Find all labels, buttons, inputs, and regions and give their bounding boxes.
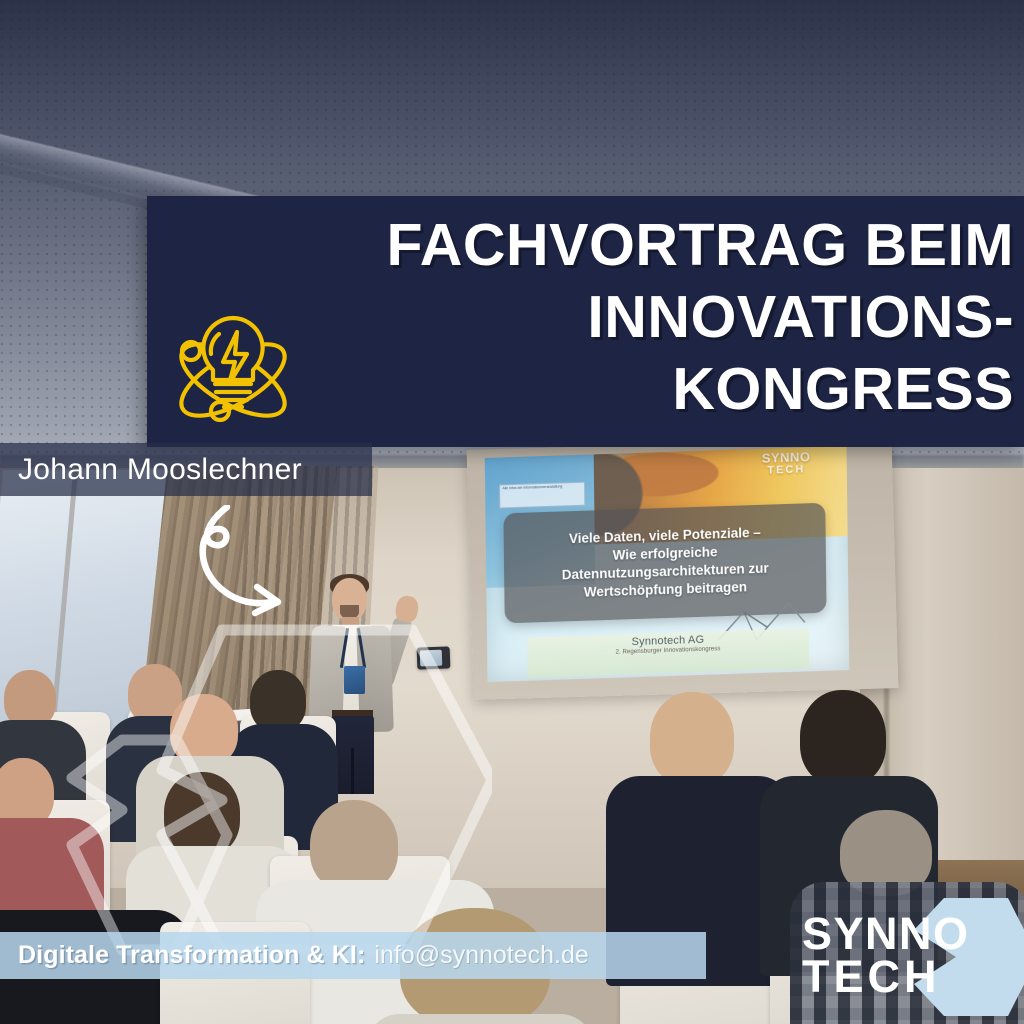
audience-body: [366, 1014, 594, 1024]
audience-head: [310, 800, 398, 892]
contact-email[interactable]: info@synnotech.de: [374, 941, 588, 970]
poster-canvas: Alle Infos der Informationsveranstaltung…: [0, 0, 1024, 1024]
logo-wordmark: SYNNO TECH: [802, 912, 970, 998]
audience-head: [800, 690, 886, 786]
title-text-block: FACHVORTRAG BEIM INNOVATIONS- KONGRESS: [152, 210, 1014, 426]
contact-headline: Digitale Transformation & KI:: [0, 941, 365, 970]
curly-arrow-icon: [183, 505, 298, 620]
slide-headline: Viele Daten, viele Potenziale – Wie erfo…: [555, 524, 775, 603]
title-line-3: KONGRESS: [152, 354, 1014, 426]
speaker-name: Johann Mooslechner: [0, 453, 302, 487]
audience-head: [164, 772, 240, 856]
projected-slide: Alle Infos der Informationsveranstaltung…: [485, 446, 850, 682]
title-line-2: INNOVATIONS-: [152, 282, 1014, 354]
synnotech-logo: SYNNO TECH: [798, 898, 1024, 1014]
logo-line-2: TECH: [802, 955, 970, 998]
title-banner: FACHVORTRAG BEIM INNOVATIONS- KONGRESS: [147, 196, 1024, 447]
contact-bar[interactable]: Digitale Transformation & KI: info@synno…: [0, 932, 706, 979]
audience-head: [650, 692, 734, 786]
presenter-hand: [394, 594, 420, 623]
slide-badge: Alle Infos der Informationsveranstaltung: [500, 482, 586, 509]
slide-brand-mark: SYNNO TECH: [762, 452, 811, 476]
conference-room-photo: Alle Infos der Informationsveranstaltung…: [0, 0, 1024, 1024]
audience-head: [250, 670, 306, 732]
title-line-1: FACHVORTRAG BEIM: [152, 210, 1014, 282]
speaker-name-bar: Johann Mooslechner: [0, 443, 372, 496]
slide-brand-line2: TECH: [762, 464, 811, 476]
